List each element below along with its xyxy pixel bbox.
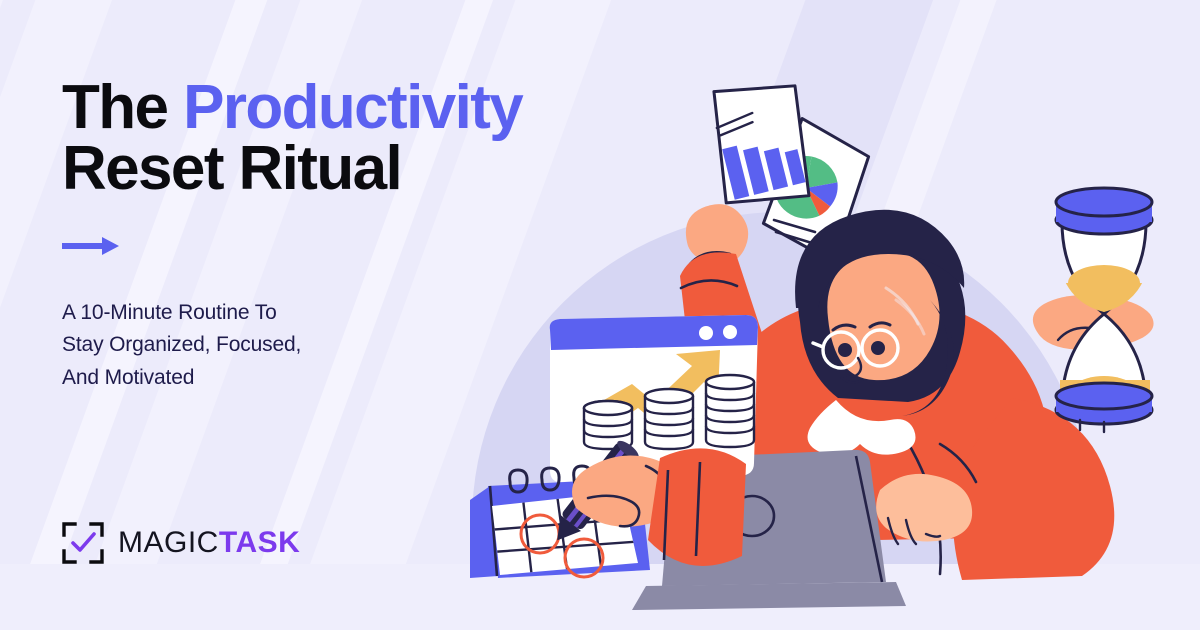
subtitle-line-1: A 10-Minute Routine To	[62, 297, 662, 330]
headline-accent: Productivity	[183, 73, 522, 142]
browser-dot	[723, 325, 737, 339]
headline-plain: The	[62, 73, 183, 142]
page-title: The Productivity Reset Ritual	[62, 78, 662, 200]
headline-line-1: The Productivity	[62, 78, 662, 139]
checkbox-bracket-check-icon	[62, 522, 104, 564]
coin-stack-small	[584, 401, 632, 449]
subtitle-line-3: And Motivated	[62, 362, 662, 395]
banner-root: The Productivity Reset Ritual A 10-Minut…	[0, 0, 1200, 630]
brand-word-task: TASK	[219, 528, 300, 558]
text-column: The Productivity Reset Ritual A 10-Minut…	[62, 78, 662, 394]
browser-dot	[699, 326, 713, 340]
report-document-bar-chart	[699, 72, 821, 215]
arrow-row	[62, 236, 662, 261]
headline-line-2: Reset Ritual	[62, 139, 662, 200]
brand-word-magic: MAGIC	[118, 528, 219, 558]
subtitle-line-2: Stay Organized, Focused,	[62, 329, 662, 362]
coin-stack-large	[706, 375, 754, 447]
brand-logo[interactable]: MAGICTASK	[62, 522, 300, 564]
subtitle: A 10-Minute Routine To Stay Organized, F…	[62, 297, 662, 395]
right-arrow-icon	[62, 236, 120, 256]
brand-wordmark: MAGICTASK	[118, 528, 300, 558]
coin-stack-medium	[645, 389, 693, 449]
